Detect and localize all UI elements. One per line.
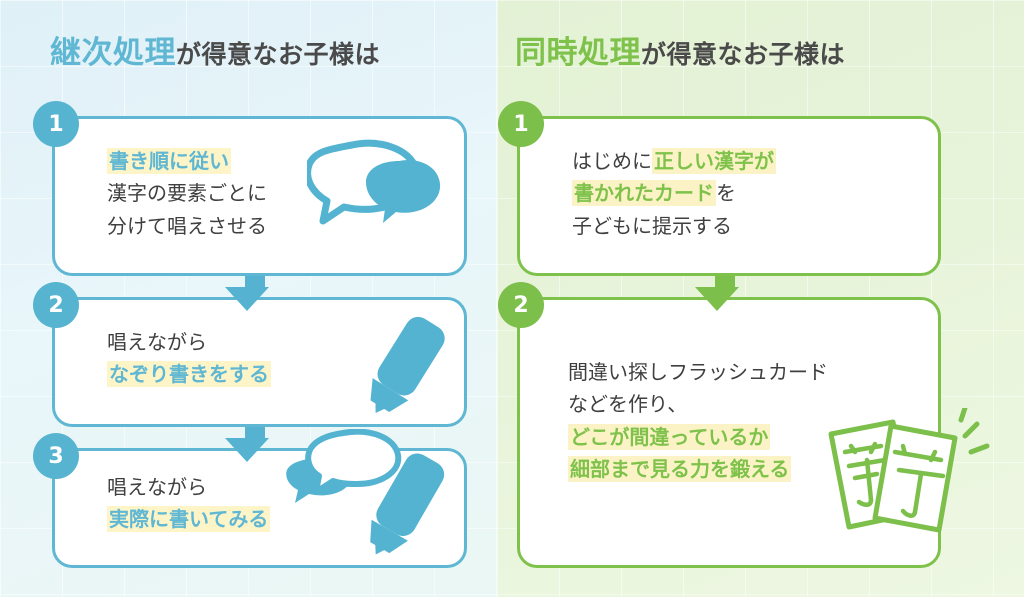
right-panel-simultaneous-processing: 同時処理が得意なお子様は 1 はじめに正しい漢字が 書かれたカードを 子どもに提… [497,0,1024,597]
left-card-2[interactable]: 2 唱えながら なぞり書きをする [52,297,467,427]
speech-bubbles-icon [307,137,452,227]
right-card-2-line-2: などを作り、 [568,392,687,416]
left-card-3-text: 唱えながら 実際に書いてみる [107,471,270,536]
left-card-1-badge: 1 [33,101,79,147]
left-card-3-line-1: 唱えながら [107,475,207,499]
left-card-3-badge: 3 [33,433,79,479]
left-card-1[interactable]: 1 書き順に従い 漢字の要素ごとに 分けて唱えさせる [52,116,467,276]
left-panel-sequential-processing: 継次処理が得意なお子様は 1 書き順に従い 漢字の要素ごとに 分けて唱えさせる … [0,0,497,597]
right-card-1-line-2-seg-1: 書かれたカード [572,180,716,206]
left-card-2-text: 唱えながら なぞり書きをする [107,326,271,391]
left-card-3[interactable]: 3 唱えながら 実際に書いてみる [52,448,467,568]
right-card-1-line-1-seg-2: 正しい漢字が [652,148,776,174]
left-heading-rest: が得意なお子様は [176,40,380,69]
right-card-2-line-3: どこが間違っているか [568,424,770,450]
left-card-1-line-3: 分けて唱えさせる [107,214,267,238]
left-card-2-line-1: 唱えながら [107,330,207,354]
right-card-1[interactable]: 1 はじめに正しい漢字が 書かれたカードを 子どもに提示する [517,116,941,276]
infographic-stage: 継次処理が得意なお子様は 1 書き順に従い 漢字の要素ごとに 分けて唱えさせる … [0,0,1024,597]
flash-cards-icon [815,408,995,538]
right-card-2-line-4: 細部まで見る力を鍛える [568,456,791,482]
right-card-2-badge: 2 [498,282,544,328]
left-card-1-line-1: 書き順に従い [107,148,231,174]
right-card-1-text: はじめに正しい漢字が 書かれたカードを 子どもに提示する [572,145,776,242]
left-card-2-line-2: なぞり書きをする [107,361,271,387]
left-panel-heading: 継次処理が得意なお子様は [50,38,380,69]
left-heading-accent: 継次処理 [50,35,176,71]
right-heading-accent: 同時処理 [515,35,641,71]
left-card-2-badge: 2 [33,282,79,328]
right-card-1-line-3-seg-1: 子どもに提示する [572,214,732,238]
right-heading-rest: が得意なお子様は [641,40,845,69]
left-card-1-text: 書き順に従い 漢字の要素ごとに 分けて唱えさせる [107,145,267,242]
right-panel-heading: 同時処理が得意なお子様は [515,38,845,69]
left-card-1-line-2: 漢字の要素ごとに [107,181,267,205]
right-card-2-line-1: 間違い探しフラッシュカード [568,360,828,384]
marker-pen-icon [347,443,457,568]
right-card-2-text: 間違い探しフラッシュカード などを作り、 どこが間違っているか 細部まで見る力を… [568,356,828,486]
right-card-1-line-2-seg-2: を [716,181,736,205]
left-arrow-2 [225,438,269,462]
right-card-1-line-1-seg-1: はじめに [572,149,652,173]
right-card-1-badge: 1 [498,101,544,147]
marker-pen-icon [347,310,457,425]
right-arrow-1 [695,287,739,311]
left-arrow-1 [225,287,269,311]
left-card-3-line-2: 実際に書いてみる [107,506,270,532]
